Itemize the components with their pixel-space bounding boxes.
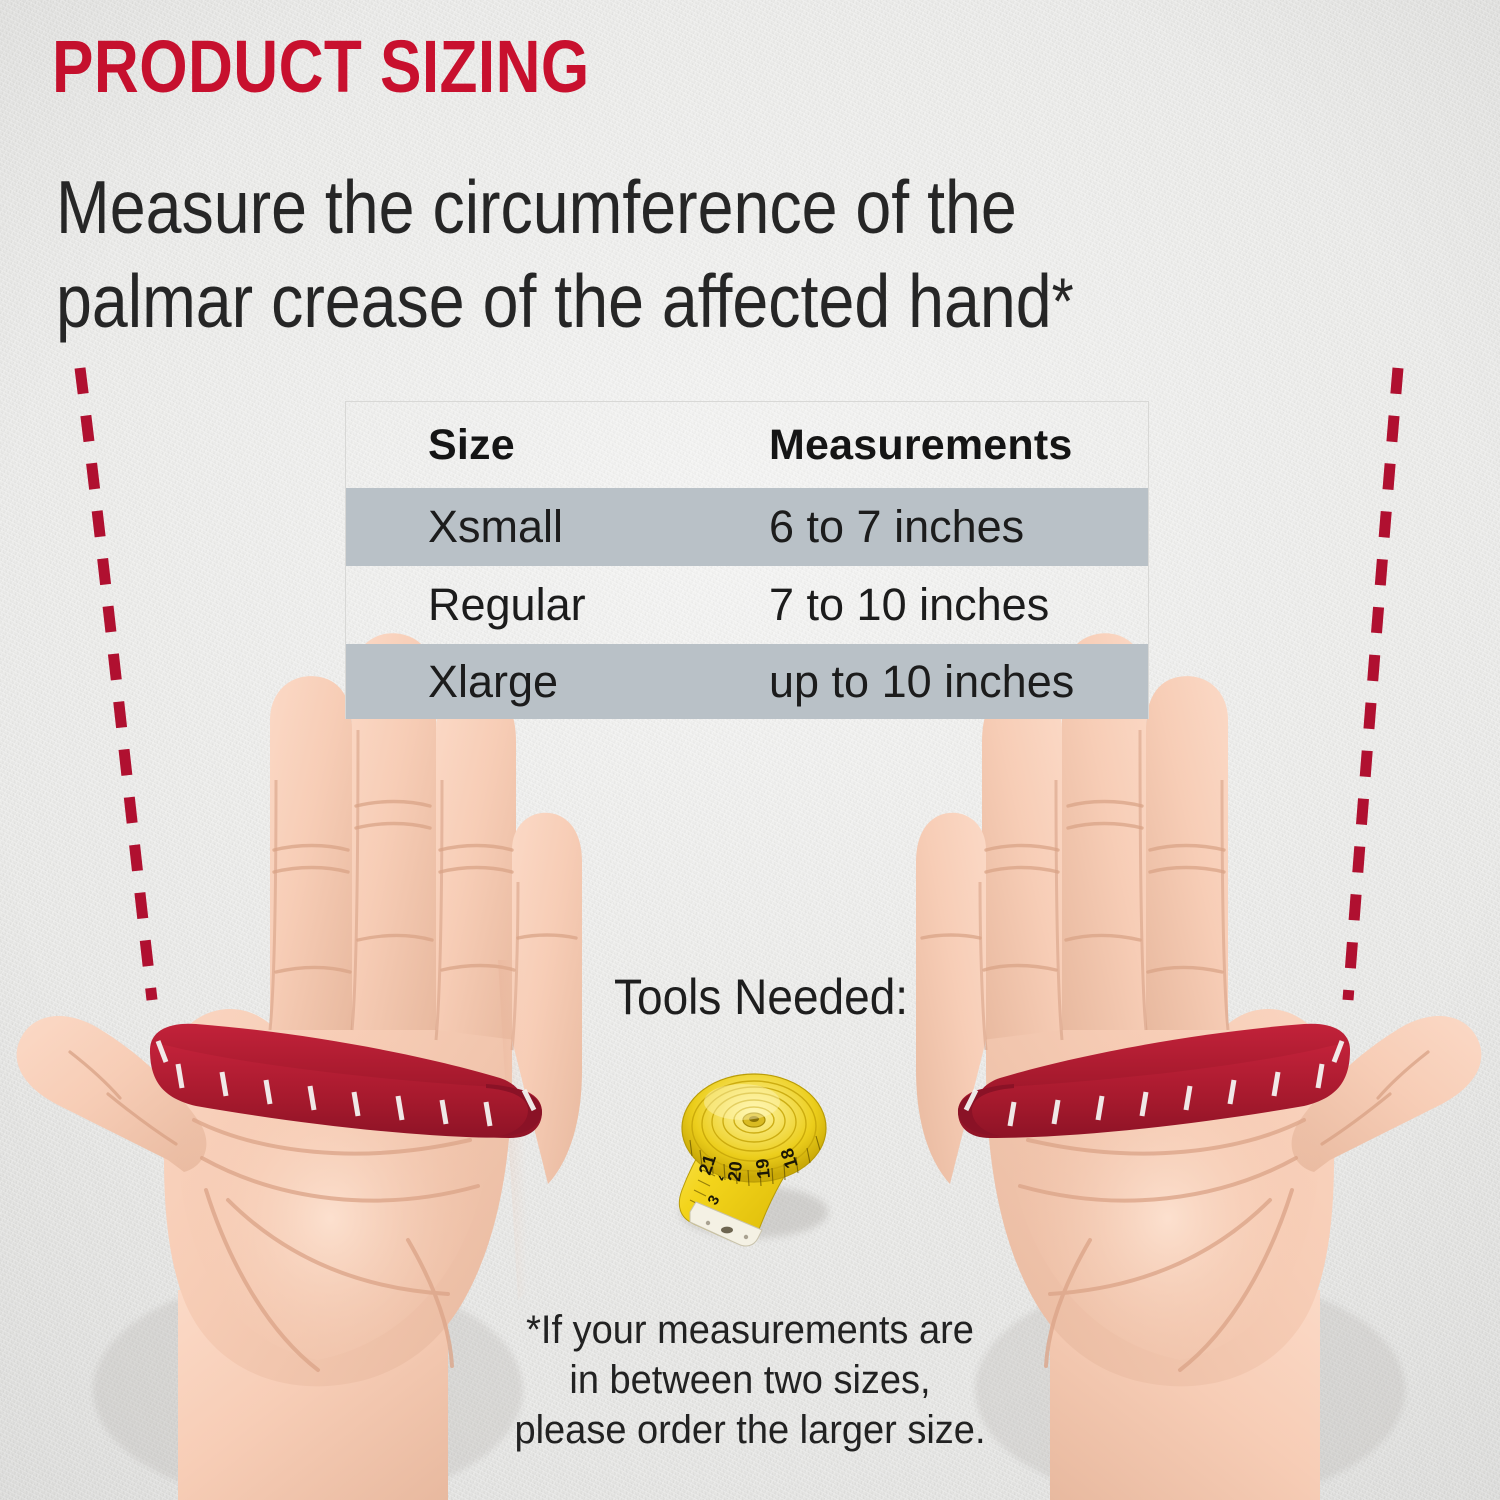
measuring-tape-icon: 2 3 4 5 6 7 — [650, 1030, 850, 1270]
tools-needed-label: Tools Needed: — [614, 968, 908, 1026]
table-row: Xlarge up to 10 inches — [346, 644, 1148, 719]
tape-roll-number-20: 20 — [724, 1160, 746, 1182]
subtitle-asterisk: * — [1052, 264, 1074, 338]
measuring-tape-svg: 2 3 4 5 6 7 — [650, 1030, 850, 1270]
cell-measurement-xlarge: up to 10 inches — [691, 656, 1148, 708]
table-row: Xsmall 6 to 7 inches — [346, 488, 1148, 566]
infographic-canvas: PRODUCT SIZING Measure the circumference… — [0, 0, 1500, 1500]
subtitle-line-2: palmar crease of the affected hand — [56, 259, 1052, 343]
column-header-size: Size — [346, 421, 691, 470]
cell-size-xlarge: Xlarge — [346, 656, 691, 708]
left-hand-illustration — [0, 600, 598, 1500]
cell-measurement-regular: 7 to 10 inches — [691, 579, 1148, 631]
footnote-text: *If your measurements are in between two… — [513, 1305, 988, 1455]
subtitle-line-2-wrap: palmar crease of the affected hand* — [56, 254, 1260, 348]
tape-roll-number-19: 19 — [752, 1158, 774, 1180]
table-header-row: Size Measurements — [346, 402, 1148, 488]
cell-measurement-xsmall: 6 to 7 inches — [691, 501, 1148, 553]
column-header-measurements: Measurements — [691, 421, 1148, 470]
sizing-table: Size Measurements Xsmall 6 to 7 inches R… — [345, 401, 1149, 719]
right-hand-illustration — [900, 600, 1500, 1500]
hand-svg — [0, 600, 598, 1500]
cell-size-xsmall: Xsmall — [346, 501, 691, 553]
cell-size-regular: Regular — [346, 579, 691, 631]
table-row: Regular 7 to 10 inches — [346, 566, 1148, 644]
tape-roll: 21 20 19 18 — [682, 1074, 826, 1186]
hand-svg — [900, 600, 1500, 1500]
page-title: PRODUCT SIZING — [52, 28, 590, 106]
page-subtitle: Measure the circumference of the palmar … — [56, 160, 1260, 348]
subtitle-line-1: Measure the circumference of the — [56, 160, 1260, 254]
